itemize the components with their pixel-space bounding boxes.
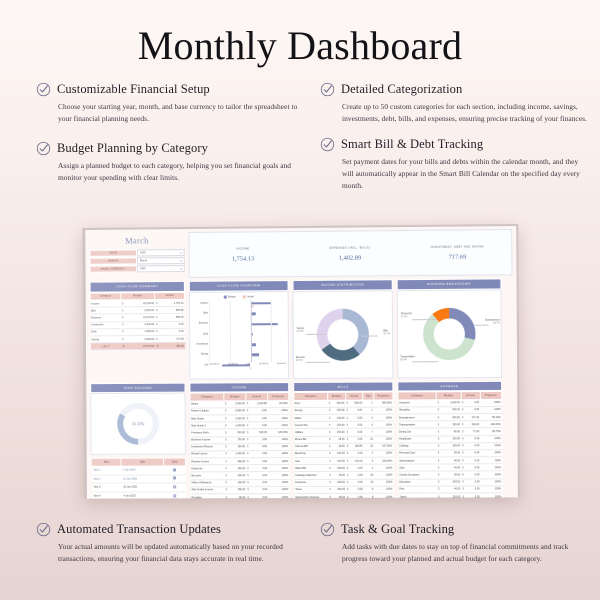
feature-detailed-categorization: Detailed Categorization Create up to 50 … [320,82,590,125]
table-row[interactable]: Task 215 Jan 2025 [91,474,185,483]
feature-title: Budget Planning by Category [57,141,208,156]
cell-day: 8 [364,486,375,493]
income-table: Category Budget Actual Progress Salary$3… [189,392,289,498]
task-checkbox[interactable] [173,477,176,480]
cell-category: Royalties [191,494,225,499]
cell-progress: 100% [480,399,502,406]
cell-date: 4 Jan 2025 [121,492,164,499]
cell-progress: 100% [268,407,289,414]
setting-label: BASE CURRENCY [89,265,137,272]
col-date: Date [121,458,164,466]
cell-day: 16 [363,443,374,450]
kpi-value: 717.69 [404,253,512,261]
cell-category: Bonuses [190,472,224,479]
table-row[interactable]: Task 320 Jan 2025 [91,483,185,492]
chevron-down-icon[interactable]: ▾ [180,266,182,270]
col-task: Task [91,458,121,466]
kpi-label: INCOME [190,247,297,251]
feature-task-goal-tracking: Task & Goal Tracking Add tasks with due … [320,522,590,565]
cell-progress: 100% [268,479,289,486]
setting-value: 2025 [140,251,146,254]
cell-progress: 88.75% [480,428,502,435]
feature-body: Your actual amounts will be updated auto… [36,541,306,565]
cell-progress: 100% [374,450,393,457]
col-progress: Progress [374,392,393,399]
kpi-label: INVESTMENT, DEBT AND SAVING [404,245,512,249]
feature-body: Assign a planned budget to each category… [36,160,306,184]
setting-month[interactable]: MONTH March ▾ [89,257,184,265]
col-progress: Progress [268,393,289,400]
check-circle-icon [320,522,335,537]
cell-task: Task 3 [91,483,121,492]
feature-smart-bill-debt-tracking: Smart Bill & Debt Tracking Set payment d… [320,137,590,192]
cell-category: Insurance [294,479,328,486]
cell-task: Task 1 [91,466,121,475]
col-budget: Budget [224,393,246,400]
dashboard-screenshot[interactable]: March YEAR 2025 ▾ MONTH March [82,224,520,499]
chevron-down-icon[interactable]: ▾ [180,259,182,263]
kpi-label: EXPENSES (INCL. BILLS) [296,246,403,250]
bills-table: Category Budget Actual Day Progress Rent… [293,392,394,499]
chart-bar-group: Expense [209,320,283,331]
month-title: March [89,232,184,250]
cell-day: 3 [364,464,375,471]
cell-progress: 100% [268,436,289,443]
cell-category: Gifts or Allowance [191,479,225,486]
cell-progress: 100% [481,471,503,478]
cell-day: 1 [363,407,374,414]
cell-progress: 100% [268,472,289,479]
panel-cash-flow-summary: CASH FLOW SUMMARY Category Budget Actual… [90,281,186,380]
features-top-right-column: Detailed Categorization Create up to 50 … [320,82,590,204]
cell-progress: 120.00% [374,457,393,464]
feature-body: Create up to 50 custom categories for ea… [320,101,590,125]
kpi-expenses: EXPENSES (INCL. BILLS) 1,402.89 [296,246,403,262]
chart-bar-group: Bills [209,310,283,321]
chart-bar [250,323,277,326]
setting-base-currency[interactable]: BASE CURRENCY USD ▾ [89,265,184,273]
donut-label-expense: Expense 19.7% [296,357,305,363]
chart-bar [222,364,251,367]
donut-label-saving: Saving 23.7% [297,328,304,334]
cell-done [164,492,185,499]
col-actual: Actual [246,393,268,400]
chart-bar-label: Investment [192,343,208,346]
cell-category: Subscription Services [294,493,328,498]
kpi-row: INCOME 1,754.13 EXPENSES (INCL. BILLS) 1… [189,229,513,278]
cell-day: 4 [363,414,374,421]
setting-value-dropdown[interactable]: 2025 ▾ [137,249,185,256]
cell-progress: 100% [480,435,502,442]
features-top-left-column: Customizable Financial Setup Choose your… [36,82,306,196]
panel-header: CASH FLOW OVERVIEW [189,280,289,291]
cell-date: 4 Jan 2025 [121,466,164,475]
cell-done [164,474,185,483]
chart-bar-label: Income [192,301,208,304]
check-circle-icon [320,82,335,97]
cell-category: Pets [398,486,437,493]
cell-task: Task 2 [91,475,121,484]
cell-progress: 100% [268,450,289,457]
cell-category: Taxes [294,486,328,493]
panel-header: EXPENSE [397,380,502,391]
cell-progress: 100% [268,443,289,450]
cell-category: Travel [399,493,438,499]
cell-progress: 100% [374,486,393,493]
col-actual: Actual [461,392,480,400]
gauge-percent: 33.33% [132,421,144,426]
donut-label-bills: Bills 26.7% [383,330,390,336]
cell-progress: 100% [374,493,393,498]
chart-bar-label: Saving [192,353,208,356]
cell-day: 6 [363,421,374,428]
cell-category: Dividends [190,465,224,472]
check-circle-icon [36,141,51,156]
panel-expense-breakdown: EXPENSE BREAKDOWN Dining Out 11.2% Enter… [397,278,502,378]
cell-category: Side Hustle Income [191,487,225,494]
table-row[interactable]: Task 14 Jan 2025 [91,466,185,475]
check-circle-icon [320,137,335,152]
task-checkbox[interactable] [173,485,176,488]
cell-progress: 100% [374,479,393,486]
col-budget: Budget [328,392,346,399]
cell-day: 7 [363,428,374,435]
cell-progress: 580.00% [374,400,393,407]
chart-bar [250,367,251,369]
donut-ring [423,307,476,360]
cell-progress: 100% [268,422,289,429]
cell-date: 15 Jan 2025 [121,475,164,484]
poster-page: Monthly Dashboard Customizable Financial… [0,0,600,600]
task-checkbox[interactable] [173,468,176,471]
cell-progress: 100% [374,436,393,443]
cell-progress: 100% [374,472,393,479]
chart-bar-label: Left [192,363,208,366]
col-progress: Progress [480,392,502,400]
task-table: Task Date Done Task 14 Jan 2025Task 215 … [91,458,187,499]
expense-table: Category Budget Actual Progress Grocerie… [397,391,503,499]
setting-label: YEAR [89,249,137,256]
panel-header: INCOME [189,382,289,393]
cell-progress: 100% [481,493,503,499]
chart-bar [250,305,254,307]
cell-progress: 100% [480,464,502,471]
col-done: Done [164,458,185,466]
features-bottom-left-column: Automated Transaction Updates Your actua… [36,522,306,577]
panel-income-table: INCOME Category Budget Actual Progress S… [189,382,290,499]
page-title: Monthly Dashboard [0,0,600,68]
chart-bar-group: Income [209,300,283,311]
cell-progress: 100% [268,494,289,499]
panel-bills-table: BILLS Category Budget Actual Day Progres… [293,381,394,499]
kpi-income: INCOME 1,754.13 [190,247,297,263]
cell-progress: 100% [374,421,393,428]
chart-bar-label: Debt [192,332,208,335]
panel-income-distribution: INCOME DISTRIBUTION Saving 23.7% Bills [293,279,394,378]
kpi-investment-debt-saving: INVESTMENT, DEBT AND SAVING 717.69 [404,245,512,261]
panel-header: CASH FLOW SUMMARY [90,281,185,292]
cell-task: Task 4 [91,492,121,499]
chevron-down-icon[interactable]: ▾ [180,251,182,255]
table-row: Travel$250.00$0.00100% [399,493,503,499]
feature-budget-planning-by-category: Budget Planning by Category Assign a pla… [36,141,306,184]
cell-progress: 80.10% [480,413,502,420]
cell-progress: 100% [480,457,502,464]
panel-header: TASK TRACKER [90,382,185,393]
chart-bar-label: Expense [192,322,208,325]
check-circle-icon [36,522,51,537]
cell-progress: 167.00% [374,443,393,450]
col-budget: Budget [437,392,461,400]
task-checkbox[interactable] [173,494,176,497]
setting-value: March [140,259,147,262]
feature-body: Set payment dates for your bills and deb… [320,156,590,192]
cell-progress: 100% [374,414,393,421]
setting-label: MONTH [89,257,137,264]
cell-progress: 100% [268,486,289,493]
donut-label-transportation: Transportation 50.4% [400,356,415,362]
expense-breakdown-chart: Dining Out 11.2% Entertainment 28.7% Tra… [397,289,502,378]
chart-bar-group: Saving [209,351,283,362]
feature-body: Choose your starting year, month, and ba… [36,101,306,125]
cell-progress: 24.09% [268,400,289,407]
cell-date: 20 Jan 2025 [121,483,164,492]
cell-progress: 100% [481,486,503,493]
cell-progress: 100% [480,450,502,457]
setting-year[interactable]: YEAR 2025 ▾ [89,249,184,257]
legend-actual: Actual [243,295,254,298]
chart-bar-group: Debt [209,331,283,342]
cell-progress: 100% [374,464,393,471]
feature-title: Detailed Categorization [341,82,462,97]
cell-progress: 204.00% [480,421,502,428]
cell-day: 20 [364,472,375,479]
feature-customizable-financial-setup: Customizable Financial Setup Choose your… [36,82,306,125]
table-row: Subscription Services$50.00$0.008100% [294,493,393,498]
features-bottom-right-column: Task & Goal Tracking Add tasks with due … [320,522,590,577]
chart-bar-group: Investment [209,341,283,352]
panel-header: INCOME DISTRIBUTION [293,279,393,290]
chart-bar-group: Left [209,362,283,373]
kpi-value: 1,402.89 [296,254,403,262]
feature-automated-transaction-updates: Automated Transaction Updates Your actua… [36,522,306,565]
col-actual: Actual [345,392,363,399]
cell-day: 3 [363,457,374,464]
cell-day: 8 [364,493,375,498]
setting-value: USD [140,267,145,270]
donut-label-dining-out: Dining Out 11.2% [401,313,412,319]
kpi-value: 1,754.13 [190,255,297,263]
panel-task-tracker: TASK TRACKER 33.33% Task Date Done [90,382,186,498]
cash-flow-summary-table: Category Budget Actual Income$10,190.00$… [90,291,186,350]
cell-progress: 105.05% [268,429,289,436]
feature-title: Task & Goal Tracking [341,522,454,537]
table-total-row: L E F T$-13,775.00$-366.45 [90,342,184,350]
cell-progress: 100% [268,465,289,472]
month-settings-panel: March YEAR 2025 ▾ MONTH March [89,232,185,279]
cell-day: 1 [363,400,374,407]
table-row: Royalties$80.00$0.00100% [191,494,290,499]
feature-title: Automated Transaction Updates [57,522,221,537]
cell-progress: 100% [374,407,393,414]
feature-title: Smart Bill & Debt Tracking [341,137,483,152]
cell-day: 20 [364,479,375,486]
panel-header: EXPENSE BREAKDOWN [397,278,502,289]
cell-done [164,466,185,475]
task-tracker-gauge: 33.33% [90,393,186,455]
setting-value-dropdown[interactable]: March ▾ [137,257,185,264]
panel-expense-table: EXPENSE Category Budget Actual Progress … [397,380,503,498]
donut-label-entertainment: Entertainment 28.7% [485,319,499,325]
chart-plot-area: IncomeBillsExpenseDebtInvestmentSavingLe… [209,300,283,362]
cell-progress: 100% [480,442,502,449]
income-distribution-chart: Saving 23.7% Bills 26.7% Expense [293,290,394,379]
panel-cash-flow-overview: CASH FLOW OVERVIEW Budget Actual IncomeB… [189,280,289,379]
feature-body: Add tasks with due dates to stay on top … [320,541,590,565]
feature-title: Customizable Financial Setup [57,82,210,97]
cell-progress: 100% [268,458,289,465]
cell-progress: 100% [480,406,502,413]
cash-flow-overview-chart: Budget Actual IncomeBillsExpenseDebtInve… [189,291,289,380]
legend-budget: Budget [224,295,236,298]
check-circle-icon [36,82,51,97]
cell-done [164,483,185,492]
cell-day: 3 [363,450,374,457]
chart-legend: Budget Actual [192,295,286,299]
setting-value-dropdown[interactable]: USD ▾ [137,265,185,272]
cell-progress: 100% [374,428,393,435]
col-day: Day [363,392,374,399]
cell-progress: 100% [481,478,503,485]
panel-header: BILLS [293,381,393,392]
cell-progress: 100% [268,414,289,421]
cell-day: 16 [363,436,374,443]
table-row[interactable]: Task 44 Jan 2025 [91,492,185,499]
chart-bar [250,343,255,345]
chart-bar-label: Bills [192,312,208,315]
